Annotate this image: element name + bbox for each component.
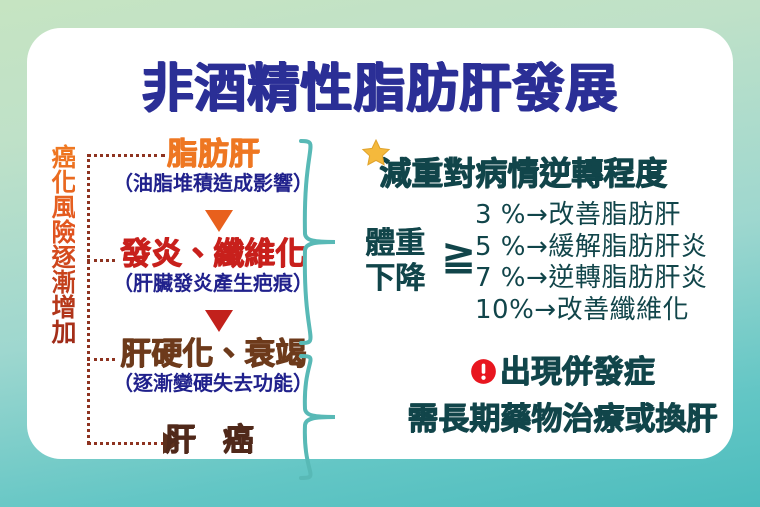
arrow-glyph: →: [534, 295, 556, 325]
arrow-down-icon-2: [205, 310, 233, 332]
percent-value: 7 %: [475, 263, 526, 295]
weight-drop-label-line1: 體重: [365, 226, 425, 261]
weight-loss-rows: 3 %→改善脂肪肝 5 %→緩解脂肪肝炎 7 %→逆轉脂肪肝炎 10%→改善纖維…: [475, 200, 760, 327]
arrow-glyph: →: [526, 263, 548, 293]
complication-block: 出現併發症 需長期藥物治療或換肝: [357, 346, 760, 438]
arrow-glyph: →: [526, 232, 548, 262]
complication-line-2: 需長期藥物治療或換肝: [357, 393, 760, 438]
progression-column: 癌化風險逐漸增加 脂肪肝 （油脂堆積造成影響） 發炎、纖維化 （肝臟發炎產生疤痕…: [35, 136, 335, 466]
weight-loss-heading-text: 減重對病情逆轉程度: [379, 154, 667, 192]
table-row: 3 %→改善脂肪肝: [475, 200, 760, 232]
dotted-connector-vertical: [87, 154, 90, 444]
weight-drop-label-line2: 下降: [365, 261, 425, 296]
weight-loss-heading: 減重對病情逆轉程度: [357, 148, 760, 194]
percent-value: 5 %: [475, 232, 526, 264]
complication-line-1-text: 出現併發症: [500, 354, 655, 390]
treatment-column: 減重對病情逆轉程度 體重 下降 ≧ 3 %→改善脂肪肝 5 %→緩解脂肪肝炎: [357, 148, 760, 438]
star-icon: [361, 138, 391, 168]
arrow-glyph: →: [526, 200, 548, 230]
brace-lower: [295, 353, 341, 481]
brace-upper: [295, 138, 341, 346]
effect-text: 逆轉脂肪肝炎: [548, 263, 707, 293]
content-card: 非酒精性脂肪肝發展 癌化風險逐漸增加 脂肪肝 （油脂堆積造成影響） 發炎、纖維化…: [27, 28, 733, 459]
table-row: 10%→改善纖維化: [475, 295, 760, 327]
arrow-down-icon-1: [205, 210, 233, 232]
table-row: 5 %→緩解脂肪肝炎: [475, 232, 760, 264]
exclamation-circle-icon: [470, 358, 497, 385]
percent-value: 3 %: [475, 200, 526, 232]
weight-drop-label: 體重 下降: [365, 226, 425, 297]
cancer-risk-axis-label: 癌化風險逐漸增加: [41, 144, 75, 344]
infographic-root: 非酒精性脂肪肝發展 癌化風險逐漸增加 脂肪肝 （油脂堆積造成影響） 發炎、纖維化…: [0, 0, 760, 507]
complication-line-1: 出現併發症: [357, 346, 760, 391]
effect-text: 緩解脂肪肝炎: [548, 232, 707, 262]
effect-text: 改善纖維化: [557, 295, 690, 325]
greater-equal-symbol: ≧: [441, 234, 476, 276]
percent-value: 10%: [475, 295, 534, 327]
table-row: 7 %→逆轉脂肪肝炎: [475, 263, 760, 295]
weight-loss-table: 體重 下降 ≧ 3 %→改善脂肪肝 5 %→緩解脂肪肝炎 7 %→逆轉脂肪肝炎: [357, 200, 760, 328]
page-title: 非酒精性脂肪肝發展: [27, 46, 733, 121]
effect-text: 改善脂肪肝: [548, 200, 681, 230]
